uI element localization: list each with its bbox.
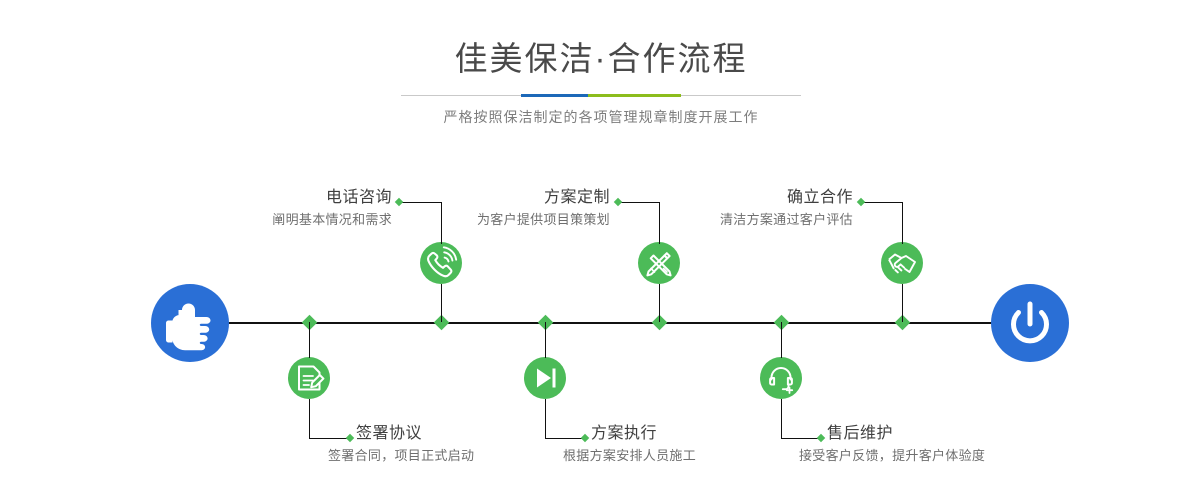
connector-horizontal-5 <box>781 438 821 439</box>
connector-horizontal-2 <box>309 438 350 439</box>
power-icon <box>991 284 1069 362</box>
connector-horizontal-6 <box>861 202 903 203</box>
step-title-2: 签署协议 <box>356 424 616 444</box>
phone-call-icon <box>420 242 462 284</box>
customer-service-icon <box>760 357 802 399</box>
flow-diagram-canvas: 佳美保洁·合作流程 严格按照保洁制定的各项管理规章制度开展工作 <box>0 0 1202 502</box>
step-node-6[interactable] <box>881 242 923 284</box>
connector-vertical-2b <box>309 399 310 438</box>
divider-blue-segment <box>521 94 588 97</box>
connector-vertical-2 <box>309 322 310 358</box>
header: 佳美保洁·合作流程 <box>0 0 1202 75</box>
step-node-2[interactable] <box>288 357 330 399</box>
step-label-1: 电话咨询 阐明基本情况和需求 <box>154 188 392 229</box>
connector-vertical-5 <box>781 322 782 358</box>
play-execute-icon <box>524 357 566 399</box>
connector-vertical-6 <box>902 202 903 244</box>
step-title-1: 电话咨询 <box>154 188 392 208</box>
connector-vertical-3b <box>659 284 660 322</box>
step-label-6: 确立合作 清洁方案通过客户评估 <box>615 188 853 229</box>
document-sign-icon <box>288 357 330 399</box>
pencil-design-icon <box>638 242 680 284</box>
connector-vertical-4 <box>545 322 546 358</box>
step-node-1[interactable] <box>420 242 462 284</box>
step-label-5: 售后维护 接受客户反馈，提升客户体验度 <box>827 424 1107 465</box>
page-subtitle: 严格按照保洁制定的各项管理规章制度开展工作 <box>0 107 1202 127</box>
connector-vertical-6b <box>902 284 903 322</box>
step-desc-5: 接受客户反馈，提升客户体验度 <box>799 447 1107 465</box>
step-title-6: 确立合作 <box>615 188 853 208</box>
pointing-hand-icon <box>151 284 229 362</box>
divider-green-segment <box>588 94 681 97</box>
connector-dot-6 <box>857 198 865 206</box>
connector-dot-2 <box>346 434 354 442</box>
page-title: 佳美保洁·合作流程 <box>0 42 1202 75</box>
step-desc-3: 为客户提供项目策策划 <box>372 211 610 229</box>
step-node-5[interactable] <box>760 357 802 399</box>
timeline-start-endpoint[interactable] <box>151 284 229 362</box>
connector-horizontal-4 <box>545 438 585 439</box>
connector-vertical-4b <box>545 399 546 438</box>
connector-vertical-5b <box>781 399 782 438</box>
timeline-end-endpoint[interactable] <box>991 284 1069 362</box>
title-divider <box>401 94 801 97</box>
step-title-3: 方案定制 <box>372 188 610 208</box>
step-node-3[interactable] <box>638 242 680 284</box>
step-desc-6: 清洁方案通过客户评估 <box>615 211 853 229</box>
step-title-4: 方案执行 <box>591 424 851 444</box>
step-desc-1: 阐明基本情况和需求 <box>154 211 392 229</box>
connector-vertical-1b <box>441 284 442 322</box>
step-label-3: 方案定制 为客户提供项目策策划 <box>372 188 610 229</box>
step-node-4[interactable] <box>524 357 566 399</box>
step-title-5: 售后维护 <box>827 424 1107 444</box>
handshake-icon <box>881 242 923 284</box>
